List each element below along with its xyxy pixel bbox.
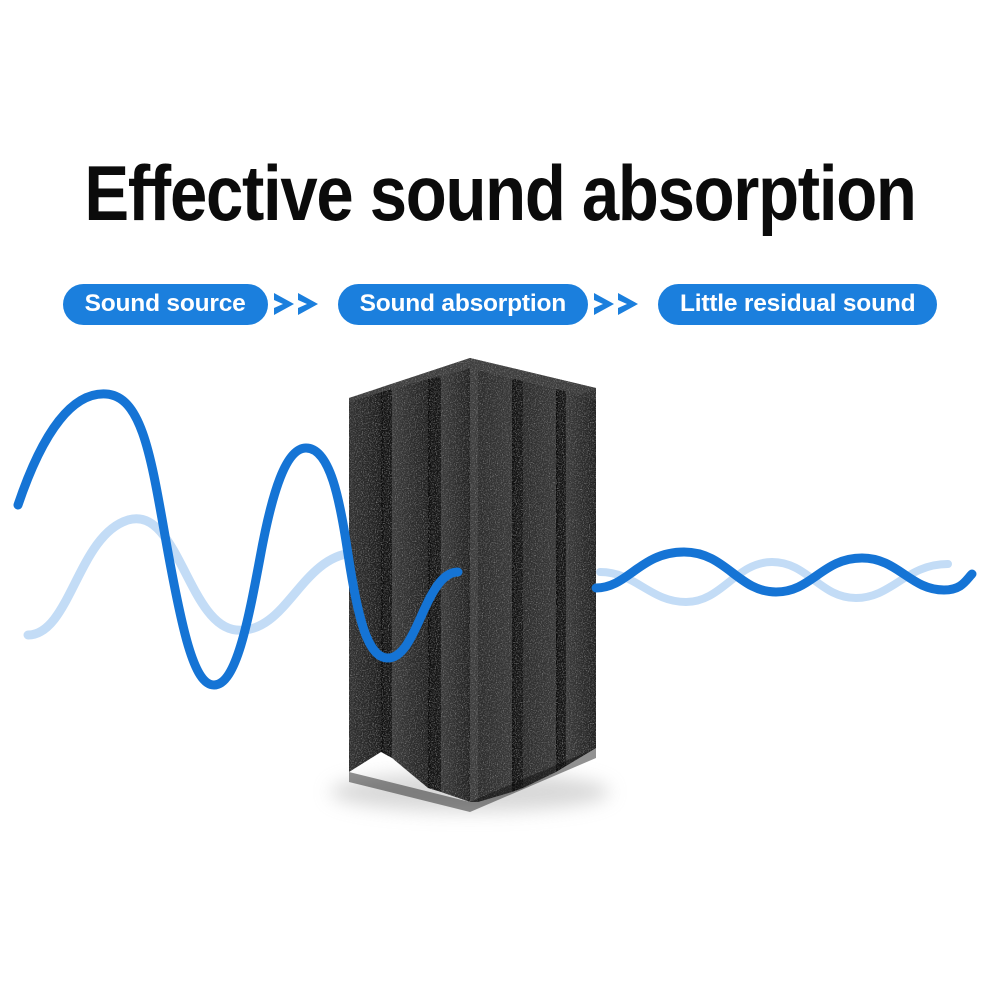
foam-groove <box>512 378 523 792</box>
flow-step-label: Sound absorption <box>360 290 566 318</box>
foam-fin <box>392 379 428 788</box>
flow-step-little-residual-sound[interactable]: Little residual sound <box>658 284 937 325</box>
foam-fin <box>441 368 470 802</box>
foam-fin <box>523 381 556 788</box>
marketing-banner: Effective sound absorption Sound source … <box>0 0 1000 1000</box>
page-title: Effective sound absorption <box>70 150 930 236</box>
process-flow: Sound source Sound absorption Little res… <box>0 282 1000 326</box>
double-chevron-right-icon <box>268 289 338 319</box>
acoustic-foam-block <box>330 358 610 812</box>
foam-right-face <box>566 391 596 766</box>
double-chevron-right-icon <box>588 289 658 319</box>
foam-groove <box>381 389 392 758</box>
flow-step-sound-source[interactable]: Sound source <box>63 284 268 325</box>
flow-step-sound-absorption[interactable]: Sound absorption <box>338 284 588 325</box>
flow-step-label: Little residual sound <box>680 290 915 318</box>
sound-absorption-illustration <box>0 340 1000 900</box>
flow-step-label: Sound source <box>85 290 246 318</box>
foam-groove <box>556 389 566 772</box>
